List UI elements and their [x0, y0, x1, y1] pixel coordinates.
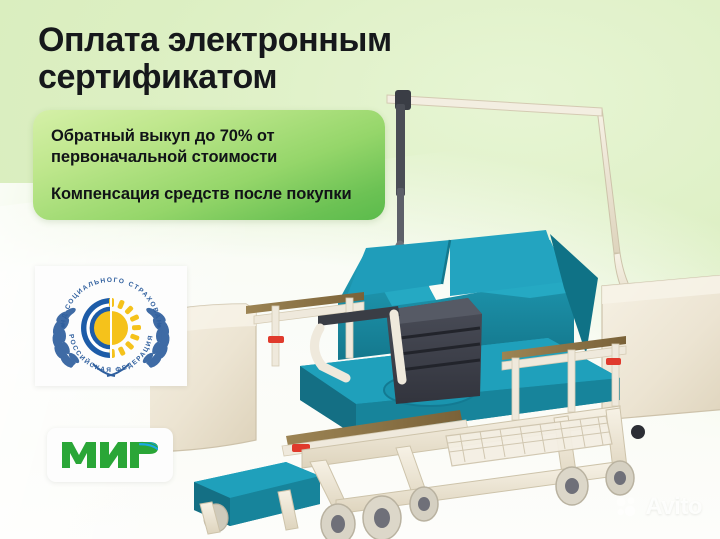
listing-image: Оплата электронным сертификатом Обратный… [0, 0, 720, 539]
mir-payment-logo-icon [60, 438, 160, 472]
benefits-card: Обратный выкуп до 70% от первоначальной … [33, 110, 385, 220]
fss-emblem-icon: ФОНД СОЦИАЛЬНОГО СТРАХОВАНИЯ РОССИЙСКАЯ … [45, 272, 177, 380]
benefit-item: Компенсация средств после покупки [51, 184, 367, 205]
mir-logo-card [47, 428, 173, 482]
fss-logo-card: ФОНД СОЦИАЛЬНОГО СТРАХОВАНИЯ РОССИЙСКАЯ … [35, 266, 187, 386]
avito-watermark: Avito [616, 493, 702, 521]
avito-wordmark: Avito [645, 493, 702, 521]
avito-dots-icon [616, 496, 640, 518]
benefit-item: Обратный выкуп до 70% от первоначальной … [51, 126, 367, 168]
fss-disc [81, 298, 141, 358]
side-rail-near [246, 292, 364, 366]
page-title: Оплата электронным сертификатом [38, 22, 508, 95]
